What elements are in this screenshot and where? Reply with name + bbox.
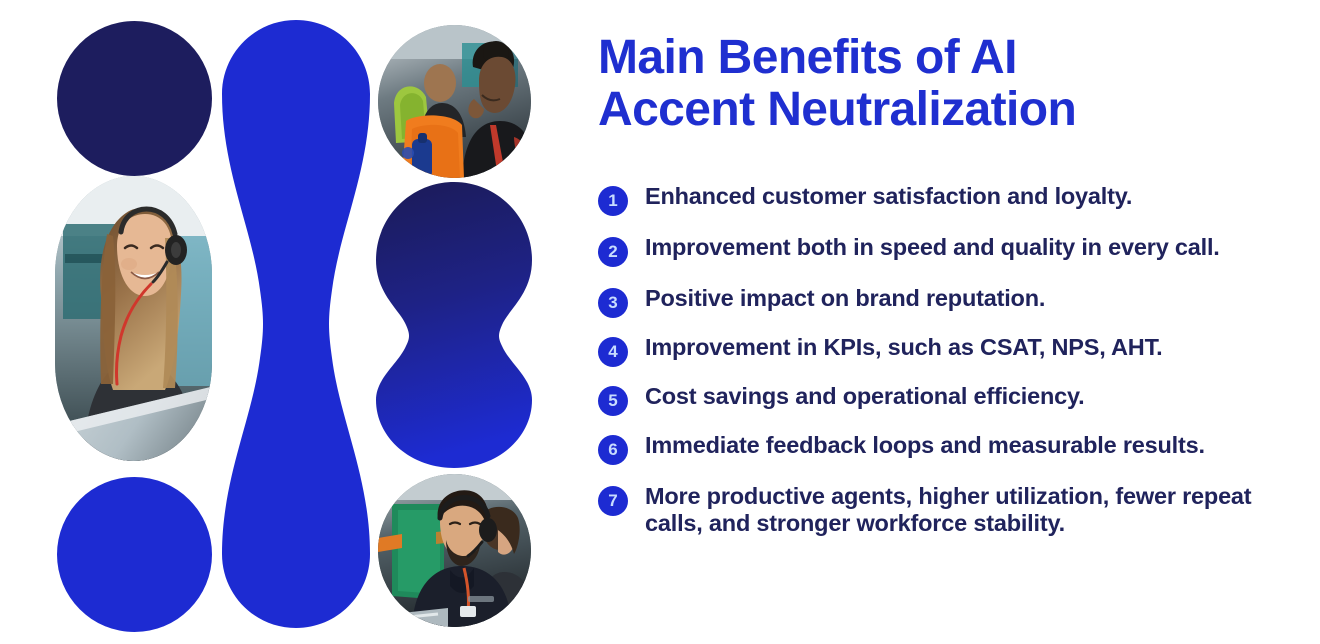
benefit-text: Positive impact on brand reputation. — [645, 285, 1045, 312]
photo-image-woman-headset — [55, 176, 212, 461]
benefit-text: Enhanced customer satisfaction and loyal… — [645, 183, 1132, 210]
benefit-text: Improvement in KPIs, such as CSAT, NPS, … — [645, 334, 1162, 361]
benefit-number-badge: 7 — [598, 486, 628, 516]
infographic-root: Main Benefits of AIAccent Neutralization… — [0, 0, 1320, 644]
benefit-text: Immediate feedback loops and measurable … — [645, 432, 1205, 459]
list-item: 7 More productive agents, higher utiliza… — [598, 483, 1286, 538]
benefit-number-badge: 3 — [598, 288, 628, 318]
photo-image-agents-laughing — [378, 25, 531, 178]
page-title: Main Benefits of AIAccent Neutralization — [598, 32, 1258, 136]
list-item: 2 Improvement both in speed and quality … — [598, 234, 1286, 267]
photo-agent-woman-headset — [55, 176, 212, 461]
benefit-text: Cost savings and operational efficiency. — [645, 383, 1085, 410]
navy-circle-shape — [57, 21, 212, 176]
tall-bone-shape — [222, 20, 370, 628]
benefit-number-badge: 6 — [598, 435, 628, 465]
benefit-number-badge: 2 — [598, 237, 628, 267]
list-item: 3 Positive impact on brand reputation. — [598, 285, 1286, 318]
graphic-panel — [0, 0, 570, 644]
benefit-text: More productive agents, higher utilizati… — [645, 483, 1286, 538]
list-item: 4 Improvement in KPIs, such as CSAT, NPS… — [598, 334, 1286, 367]
content-panel: Main Benefits of AIAccent Neutralization… — [598, 0, 1298, 644]
benefit-number-badge: 1 — [598, 186, 628, 216]
page-title-line-1: Main Benefits of AI — [598, 31, 1017, 84]
photo-agent-man-headset — [378, 474, 531, 627]
list-item: 5 Cost savings and operational efficienc… — [598, 383, 1286, 416]
benefit-number-badge: 5 — [598, 386, 628, 416]
photo-agents-laughing — [378, 25, 531, 178]
list-item: 6 Immediate feedback loops and measurabl… — [598, 432, 1286, 465]
photo-image-man-headset — [378, 474, 531, 627]
page-title-line-2: Accent Neutralization — [598, 83, 1076, 136]
gradient-bone-shape — [376, 182, 532, 468]
blue-circle-shape — [57, 477, 212, 632]
benefits-list: 1 Enhanced customer satisfaction and loy… — [598, 183, 1286, 556]
benefit-number-badge: 4 — [598, 337, 628, 367]
list-item: 1 Enhanced customer satisfaction and loy… — [598, 183, 1286, 216]
benefit-text: Improvement both in speed and quality in… — [645, 234, 1220, 261]
